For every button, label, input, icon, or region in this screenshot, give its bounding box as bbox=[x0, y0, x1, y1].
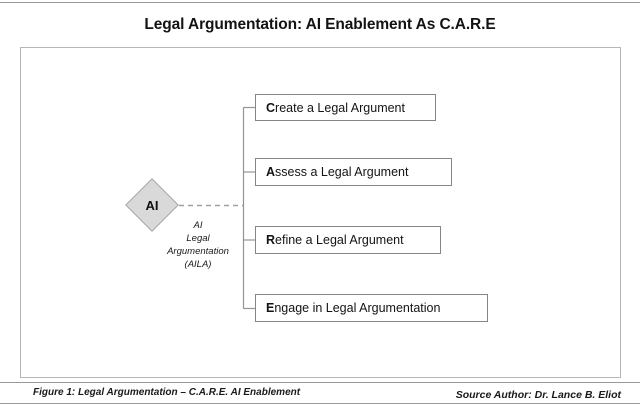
aila-caption-line-4: (AILA) bbox=[142, 258, 254, 271]
aila-caption-line-3: Argumentation bbox=[142, 245, 254, 258]
care-node-assess[interactable]: Assess a Legal Argument bbox=[255, 158, 452, 186]
care-node-engage[interactable]: Engage in Legal Argumentation bbox=[255, 294, 488, 322]
care-node-create-lead: C bbox=[266, 101, 275, 115]
care-node-assess-lead: A bbox=[266, 165, 275, 179]
care-node-refine-lead: R bbox=[266, 233, 275, 247]
care-node-refine-rest: efine a Legal Argument bbox=[275, 233, 404, 247]
figure-caption: Figure 1: Legal Argumentation – C.A.R.E.… bbox=[33, 387, 300, 398]
aila-caption: AI Legal Argumentation (AILA) bbox=[142, 219, 254, 271]
care-node-engage-rest: ngage in Legal Argumentation bbox=[274, 301, 440, 315]
page-rule-top bbox=[0, 2, 640, 3]
aila-caption-line-2: Legal bbox=[142, 232, 254, 245]
care-node-refine[interactable]: Refine a Legal Argument bbox=[255, 226, 441, 254]
source-attribution: Source Author: Dr. Lance B. Eliot bbox=[456, 389, 621, 401]
page-rule-bottom bbox=[0, 403, 640, 404]
footer-divider bbox=[0, 382, 640, 383]
care-node-assess-rest: ssess a Legal Argument bbox=[275, 165, 408, 179]
aila-caption-line-1: AI bbox=[142, 219, 254, 232]
care-node-create-rest: reate a Legal Argument bbox=[275, 101, 405, 115]
page-title: Legal Argumentation: AI Enablement As C.… bbox=[0, 16, 640, 34]
care-node-engage-lead: E bbox=[266, 301, 274, 315]
care-node-create[interactable]: Create a Legal Argument bbox=[255, 94, 436, 121]
